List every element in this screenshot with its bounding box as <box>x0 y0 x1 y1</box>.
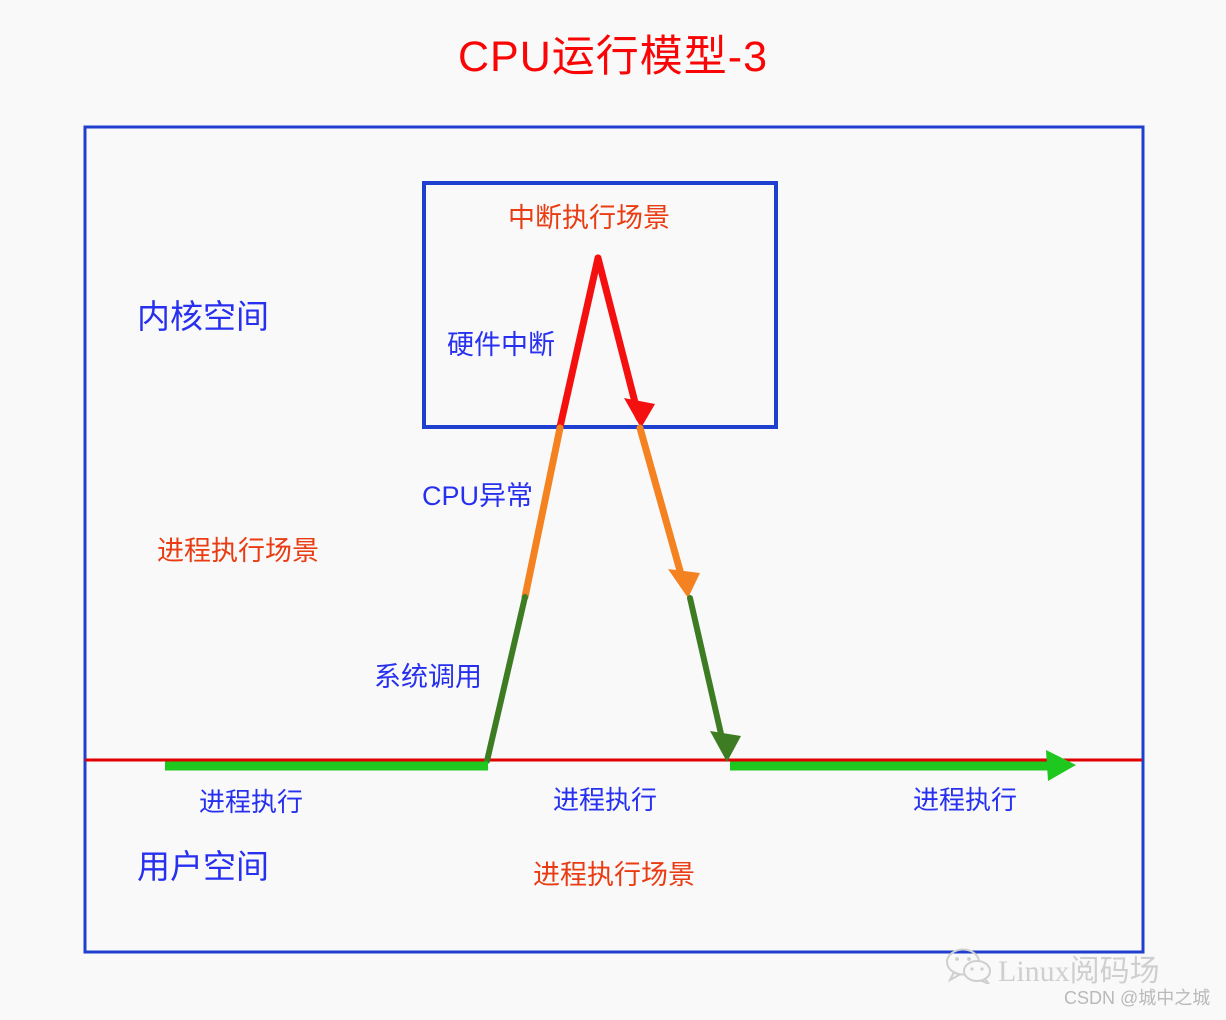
syscall-arrow-down <box>690 598 724 747</box>
syscall-arrowhead <box>710 731 741 762</box>
kernel-space-label: 内核空间 <box>137 300 269 333</box>
cpu-exception-arrow-up <box>525 428 560 597</box>
wechat-icon <box>944 948 994 984</box>
process-exec-label-3: 进程执行 <box>913 787 1017 813</box>
process-scene-label-bottom: 进程执行场景 <box>533 862 695 889</box>
hardware-interrupt-arrow-up <box>560 258 598 427</box>
watermark: Linux阅码场 CSDN @城中之城 <box>944 946 1214 1012</box>
process-exec-label-2: 进程执行 <box>553 787 657 813</box>
user-exec-arrowhead <box>1046 750 1076 781</box>
cpu-exception-arrow-down <box>640 428 684 585</box>
process-scene-label-left: 进程执行场景 <box>157 538 319 565</box>
cpu-exception-label: CPU异常 <box>422 483 533 510</box>
watermark-credit: CSDN @城中之城 <box>1064 984 1210 1010</box>
syscall-arrow-up <box>487 597 525 761</box>
interrupt-scene-label: 中断执行场景 <box>508 205 670 232</box>
diagram-canvas: CPU运行模型-3 内核空间 用户空间 中断执行场景 硬件中断 CPU异常 系统… <box>0 0 1226 1020</box>
user-space-label: 用户空间 <box>137 850 269 883</box>
hardware-interrupt-label: 硬件中断 <box>447 332 555 359</box>
hardware-interrupt-arrow-down <box>598 258 639 418</box>
syscall-label: 系统调用 <box>374 664 482 691</box>
process-exec-label-1: 进程执行 <box>199 789 303 815</box>
cpu-exception-arrowhead <box>668 569 700 598</box>
hardware-interrupt-arrowhead <box>624 398 655 428</box>
